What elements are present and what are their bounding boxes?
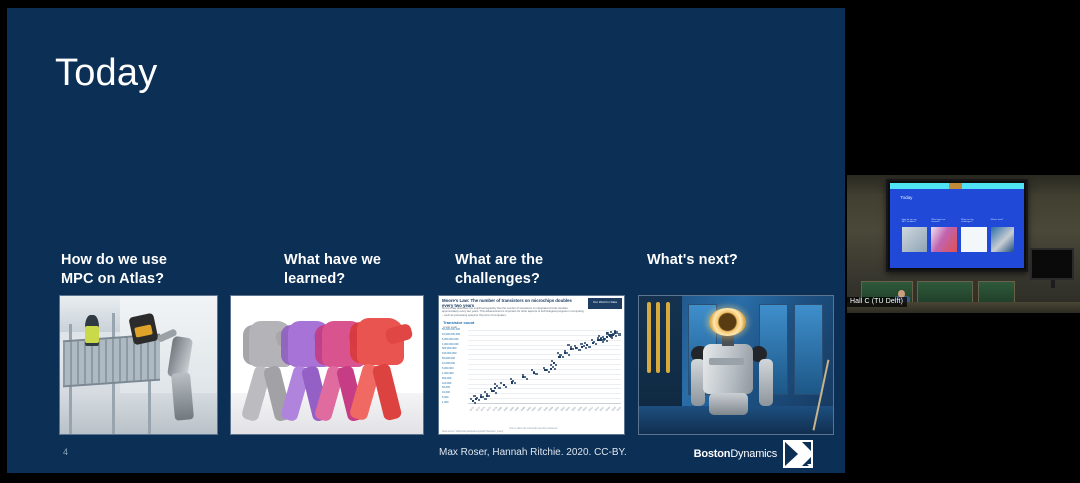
chart-ytick-label: 5,000,000 (442, 368, 454, 371)
boston-dynamics-mark (783, 440, 813, 468)
chart-plot-area: 50,000,000,00010,000,000,0005,000,000,00… (442, 330, 621, 418)
chart-ytick-label: 500,000,000 (442, 348, 456, 351)
chart-gridline (468, 364, 621, 365)
projected-heading-4: What's next? (991, 219, 1004, 222)
projection-screen: Today How do we use MPC on Atlas? What h… (886, 179, 1029, 271)
chart-data-point (474, 402, 476, 404)
chart-data-point (568, 354, 570, 356)
projected-heading-1: How do we use MPC on Atlas? (902, 219, 917, 224)
chart-data-point (555, 364, 557, 366)
chart-data-point (562, 356, 564, 358)
chart-gridline (468, 398, 621, 399)
chart-data-point (572, 348, 574, 350)
chart-ytick-label: 1,000,000,000 (442, 344, 459, 347)
chart-ytick-label: 10,000,000 (442, 363, 455, 366)
chart-subtitle: Moore's law describes the empirical regu… (442, 307, 584, 317)
projected-slide-title: Today (900, 195, 912, 200)
lecture-hall-camera-feed[interactable]: Today How do we use MPC on Atlas? What h… (847, 175, 1080, 313)
chart-gridline (468, 354, 621, 355)
chart-data-point (488, 395, 490, 397)
chart-data-point (484, 398, 486, 400)
chart-data-point (585, 347, 587, 349)
chart-xlabel: Year in which the microchip was first in… (509, 428, 557, 430)
column-3: What are the challenges? (455, 251, 630, 288)
chart-data-point (578, 349, 580, 351)
chart-data-point (478, 399, 480, 401)
chart-data-point (505, 386, 507, 388)
column-2: What have we learned? (284, 251, 459, 288)
chart-data-point (615, 335, 617, 337)
chart-source: Data source: Wikipedia (wikipedia.org/wi… (442, 431, 503, 433)
column-1-heading: How do we use MPC on Atlas? (61, 251, 231, 288)
chart-data-point (548, 371, 550, 373)
chart-gridline (468, 374, 621, 375)
chart-data-point (495, 392, 497, 394)
chart-credit-caption: Max Roser, Hannah Ritchie. 2020. CC-BY. (439, 447, 627, 458)
boston-dynamics-logo: BostonDynamics (694, 440, 813, 468)
chart-data-point (498, 387, 500, 389)
chart-ytick-label: 5,000 (442, 397, 449, 400)
new-electric-atlas-photo (638, 295, 834, 435)
chart-gridline (468, 393, 621, 394)
chart-gridline (468, 345, 621, 346)
chart-data-point (554, 368, 556, 370)
atlas-construction-toolbag-photo (59, 295, 218, 435)
chart-data-point (588, 346, 590, 348)
side-monitor (1030, 248, 1074, 280)
chart-gridline (468, 384, 621, 385)
moores-law-transistor-count-chart: Moore's Law: The number of transistors o… (438, 295, 625, 435)
chart-data-point (606, 340, 608, 342)
chart-data-point (535, 373, 537, 375)
page-title: Today (55, 54, 157, 92)
projected-heading-3: What are the challenges? (961, 219, 974, 224)
chart-data-point (526, 378, 528, 380)
slide-number: 4 (63, 447, 68, 457)
projected-heading-2: What have we learned? (931, 219, 945, 224)
wordmark-boston: Boston (694, 448, 731, 460)
chart-data-point (602, 341, 604, 343)
chart-ytick-label: 1,000 (442, 402, 449, 405)
wordmark-dynamics: Dynamics (730, 448, 777, 460)
chart-ytick-label: 1,000,000 (442, 373, 454, 376)
chart-ytick-label: 50,000 (442, 387, 450, 390)
column-4: What's next? (647, 251, 837, 270)
column-1: How do we use MPC on Atlas? (61, 251, 231, 288)
chart-data-point (611, 336, 613, 338)
chart-ytick-label: 100,000 (442, 383, 451, 386)
column-4-heading: What's next? (647, 251, 837, 270)
chart-gridline (468, 379, 621, 380)
chart-ytick-label: 100,000,000 (442, 353, 456, 356)
chart-data-point (514, 382, 516, 384)
chart-ytick-label: 10,000 (442, 392, 450, 395)
chart-ytick-label: 10,000,000,000 (442, 334, 460, 337)
boston-dynamics-wordmark: BostonDynamics (694, 448, 777, 460)
presentation-slide: Today How do we use MPC on Atlas? What h… (7, 8, 845, 473)
chart-ylabel: Transistor count (443, 320, 474, 325)
column-3-heading: What are the challenges? (455, 251, 630, 288)
chart-ytick-label: 50,000,000 (442, 358, 455, 361)
atlas-motion-sequence-ghost-render (230, 295, 424, 435)
screen-root: Today How do we use MPC on Atlas? What h… (0, 0, 1080, 483)
chart-gridline (468, 349, 621, 350)
chart-data-point (595, 343, 597, 345)
chart-data-point (618, 333, 620, 335)
camera-source-label: Hall C (TU Delft) (847, 297, 907, 308)
chart-gridline (468, 330, 621, 331)
chart-ytick-label: 5,000,000,000 (442, 339, 459, 342)
chart-xaxis (468, 403, 621, 404)
chart-gridline (468, 359, 621, 360)
chart-ytick-label: 500,000 (442, 378, 451, 381)
owid-badge: Our World in Data (588, 298, 622, 309)
column-2-heading: What have we learned? (284, 251, 459, 288)
chart-ytick-label: 50,000,000,000 (442, 329, 460, 332)
